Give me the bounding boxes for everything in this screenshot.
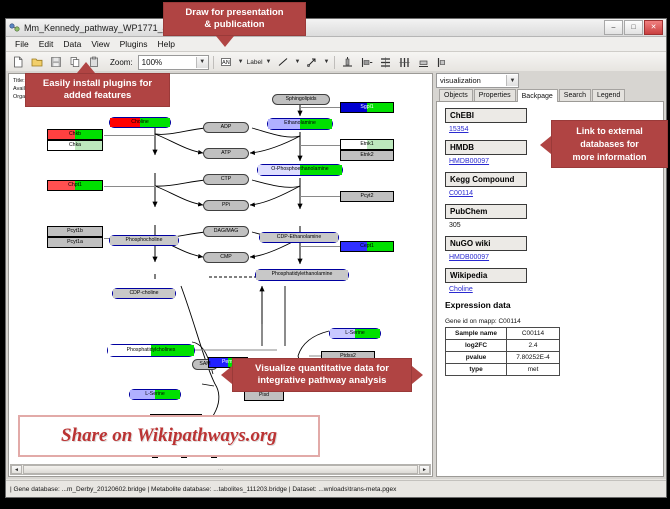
menu-item-file[interactable]: File (10, 39, 34, 49)
db-header-hmdb: HMDB (445, 140, 527, 155)
callout-link-tail (540, 136, 551, 154)
db-link-nugo-wiki[interactable]: HMDB00097 (449, 254, 663, 261)
svg-text:AN: AN (222, 60, 230, 66)
node-pcyt1b[interactable]: Pcyt1b (47, 226, 103, 237)
align-left-icon[interactable] (358, 54, 375, 71)
pathvisio-icon (9, 22, 20, 33)
callout-line: more information (558, 151, 661, 164)
menu-item-data[interactable]: Data (58, 39, 86, 49)
callout-line: Draw for presentation (170, 7, 299, 19)
label-tool-text[interactable]: Label (247, 59, 263, 66)
zoom-combo[interactable]: 100% ▼ (138, 55, 209, 70)
node-label: Phosphocholine (126, 238, 163, 243)
close-button[interactable]: ✕ (644, 20, 663, 35)
line-icon[interactable] (274, 54, 291, 71)
db-value-pubchem: 305 (449, 222, 663, 229)
node-pcyt2[interactable]: Pcyt2 (340, 191, 394, 202)
node-label: ATP (221, 151, 231, 156)
tab-properties[interactable]: Properties (474, 89, 516, 101)
node-label: Phosphatidylethanolamine (272, 272, 333, 277)
callout-plugins-tail (77, 62, 95, 73)
callout-line: & publication (170, 19, 299, 31)
expression-data-heading: Expression data (445, 300, 663, 310)
table-cell-value: met (507, 364, 560, 376)
distribute-horizontal-icon[interactable] (396, 54, 413, 71)
toolbar-separator (213, 56, 214, 69)
node-dag-mag[interactable]: DAG/MAG (203, 226, 249, 237)
save-icon[interactable] (47, 54, 64, 71)
node-label: Chka (69, 143, 81, 148)
callout-line: Link to external (558, 125, 661, 138)
visualization-bar: visualization ▼ (436, 73, 664, 88)
node-label: CDP-Ethanolamine (277, 235, 321, 240)
node-label: Pisd (259, 393, 269, 398)
menu-item-edit[interactable]: Edit (34, 39, 59, 49)
callout-line: Visualize quantitative data for (239, 363, 405, 375)
callout-line: Easily install plugins for (32, 78, 163, 90)
tab-objects[interactable]: Objects (439, 89, 473, 101)
node-label: L-Serine (345, 331, 365, 336)
stack-center-icon[interactable] (415, 54, 432, 71)
menu-item-help[interactable]: Help (153, 39, 180, 49)
callout-draw: Draw for presentation & publication (163, 2, 306, 36)
node-o-phosphoethanolamine[interactable]: O-Phosphoethanolamine (257, 164, 343, 176)
status-text: | Gene database: ...m_Derby_20120602.bri… (10, 486, 396, 493)
node-label: Sphingolipids (286, 97, 317, 102)
toolbar-separator-2 (334, 56, 335, 69)
node-l-serine-right[interactable]: L-Serine (329, 328, 381, 339)
chevron-down-icon[interactable]: ▼ (196, 57, 208, 68)
maximize-button[interactable]: □ (624, 20, 643, 35)
node-label: Phosphatidylcholines (127, 348, 176, 353)
node-phosphatidylcholines[interactable]: Phosphatidylcholines (107, 344, 195, 357)
node-label: CMP (220, 255, 232, 260)
tab-search[interactable]: Search (559, 89, 591, 101)
callout-visualize: Visualize quantitative data for integrat… (232, 358, 412, 392)
node-label: Etnk2 (360, 153, 373, 158)
node-sphingolipids[interactable]: Sphingolipids (272, 94, 330, 105)
node-label: Choline (131, 120, 149, 125)
table-cell-value: C00114 (507, 328, 560, 340)
db-link-wikipedia[interactable]: Choline (449, 286, 663, 293)
connector-chpt1 (104, 186, 156, 187)
node-label: CTP (221, 177, 231, 182)
node-chkb[interactable]: Chkb (47, 129, 103, 140)
node-cdp-ethanolamine[interactable]: CDP-Ethanolamine (259, 232, 339, 243)
zoom-label: Zoom: (110, 58, 133, 67)
node-pcyt1a[interactable]: Pcyt1a (47, 237, 103, 248)
line-dropdown-icon[interactable]: ▼ (294, 59, 300, 65)
zoom-value: 100% (142, 58, 162, 67)
node-cmp[interactable]: CMP (203, 252, 249, 263)
callout-visualize-tail-right (412, 366, 423, 384)
menu-bar[interactable]: File Edit Data View Plugins Help (6, 37, 666, 52)
node-label: Pcyt2 (361, 194, 374, 199)
text-box-dropdown-icon[interactable]: ▼ (238, 59, 244, 65)
connector-chk (104, 135, 156, 136)
tab-backpage[interactable]: Backpage (517, 89, 558, 102)
table-cell-key: Sample name (446, 328, 507, 340)
db-header-chebi: ChEBI (445, 108, 527, 123)
node-chpt1[interactable]: Chpt1 (47, 180, 103, 191)
node-adp[interactable]: ADP (203, 122, 249, 133)
node-phosphatidylethanolamine[interactable]: Phosphatidylethanolamine (255, 269, 349, 281)
node-label: Cept1 (360, 244, 374, 249)
node-label: Chpt1 (68, 183, 82, 188)
table-row: log2FC 2.4 (446, 340, 560, 352)
screenshot-root: Mm_Kennedy_pathway_WP1771_45176.gpml – □… (0, 0, 670, 509)
db-header-kegg-compound: Kegg Compound (445, 172, 527, 187)
node-phosphocholine[interactable]: Phosphocholine (109, 235, 179, 246)
tab-legend[interactable]: Legend (592, 89, 625, 101)
node-label: CDP-choline (129, 291, 158, 296)
node-label: Pcyt1b (67, 229, 83, 234)
distribute-vertical-icon[interactable] (377, 54, 394, 71)
node-sgpl1[interactable]: Sgpl1 (340, 102, 394, 113)
text-box-icon[interactable]: AN (218, 54, 235, 71)
node-label: Etnk1 (360, 142, 373, 147)
callout-line: databases for (558, 138, 661, 151)
side-panel-tabs[interactable]: Objects Properties Backpage Search Legen… (436, 88, 664, 102)
table-row: Sample name C00114 (446, 328, 560, 340)
align-top-icon[interactable] (339, 54, 356, 71)
scroll-thumb[interactable]: ··· (23, 465, 418, 474)
node-ppi[interactable]: PPi (203, 200, 249, 211)
node-label: O-Phosphoethanolamine (271, 167, 328, 172)
node-label: Chkb (69, 132, 81, 137)
status-bar: | Gene database: ...m_Derby_20120602.bri… (6, 480, 666, 497)
node-etnk2[interactable]: Etnk2 (340, 150, 394, 161)
node-label: Sgpl1 (360, 105, 373, 110)
db-header-nugo-wiki: NuGO wiki (445, 236, 527, 251)
scroll-left-arrow[interactable]: ◄ (11, 465, 22, 474)
canvas-hscrollbar[interactable]: ◄ ··· ► (10, 464, 431, 475)
toolbar[interactable]: Zoom: 100% ▼ AN ▼ Label ▼ ▼ ▼ (6, 52, 666, 73)
expression-table: Sample name C00114 log2FC 2.4 pvalue 7.8… (445, 327, 560, 376)
scroll-right-arrow[interactable]: ► (419, 465, 430, 474)
callout-line: added features (32, 90, 163, 102)
node-l-serine-left[interactable]: L-Serine (129, 389, 181, 400)
title-bar: Mm_Kennedy_pathway_WP1771_45176.gpml – □… (6, 19, 666, 37)
chevron-down-icon[interactable]: ▼ (506, 75, 518, 86)
node-label: PPi (222, 203, 230, 208)
node-choline-top[interactable]: Choline (109, 117, 171, 128)
table-cell-value: 2.4 (507, 340, 560, 352)
db-header-pubchem: PubChem (445, 204, 527, 219)
node-ctp[interactable]: CTP (203, 174, 249, 185)
minimize-button[interactable]: – (604, 20, 623, 35)
table-cell-value: 7.80252E-4 (507, 352, 560, 364)
window-controls[interactable]: – □ ✕ (604, 20, 663, 35)
table-cell-key: log2FC (446, 340, 507, 352)
node-label: DAG/MAG (214, 229, 239, 234)
db-header-wikipedia: Wikipedia (445, 268, 527, 283)
table-row: type met (446, 364, 560, 376)
table-row: pvalue 7.80252E-4 (446, 352, 560, 364)
stack-left-icon[interactable] (434, 54, 451, 71)
node-ethanolamine[interactable]: Ethanolamine (267, 118, 333, 130)
node-label: L-Serine (145, 392, 165, 397)
node-atp[interactable]: ATP (203, 148, 249, 159)
callout-draw-tail (216, 36, 234, 47)
node-chka[interactable]: Chka (47, 140, 103, 151)
node-cept1[interactable]: Cept1 (340, 241, 394, 252)
gene-id-line: Gene id on mapp: C00114 (445, 318, 663, 325)
share-text: Share on Wikipathways.org (61, 425, 277, 447)
table-cell-key: pvalue (446, 352, 507, 364)
label-dropdown-icon[interactable]: ▼ (266, 59, 272, 65)
node-label: SAM (199, 362, 210, 367)
node-cdp-choline[interactable]: CDP-choline (112, 288, 176, 299)
interaction-icon[interactable] (303, 54, 320, 71)
menu-item-view[interactable]: View (86, 39, 114, 49)
callout-line: integrative pathway analysis (239, 375, 405, 387)
callout-visualize-tail-left (221, 366, 232, 384)
callout-plugins: Easily install plugins for added feature… (25, 73, 170, 107)
node-etnk1[interactable]: Etnk1 (340, 139, 394, 150)
visualization-select[interactable]: visualization ▼ (436, 73, 519, 88)
node-label: Pcyt1a (67, 240, 83, 245)
new-file-icon[interactable] (9, 54, 26, 71)
visualization-value: visualization (440, 76, 481, 85)
table-cell-key: type (446, 364, 507, 376)
callout-share: Share on Wikipathways.org (18, 415, 320, 457)
node-label: ADP (221, 125, 232, 130)
interaction-dropdown-icon[interactable]: ▼ (323, 59, 329, 65)
menu-item-plugins[interactable]: Plugins (115, 39, 153, 49)
open-folder-icon[interactable] (28, 54, 45, 71)
callout-link: Link to external databases for more info… (551, 120, 668, 168)
node-label: Ethanolamine (284, 121, 316, 126)
db-link-kegg-compound[interactable]: C00114 (449, 190, 663, 197)
